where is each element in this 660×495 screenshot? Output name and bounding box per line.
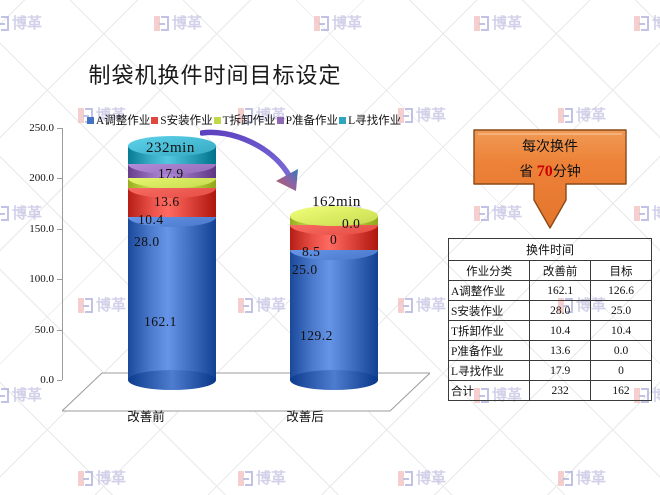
watermark-text: 博革 <box>652 206 660 221</box>
watermark: 博革 <box>0 13 154 33</box>
table-title-cell: 换件时间 <box>449 239 652 261</box>
x-label-after: 改善后 <box>245 406 365 425</box>
y-tick-label: 150.0 <box>29 223 54 235</box>
boge-logo-icon <box>398 471 413 486</box>
savings-callout: 每次换件 省 70分钟 <box>470 128 630 233</box>
watermark-text: 博革 <box>492 16 522 31</box>
y-tick-label: 100.0 <box>29 273 54 285</box>
table-column-header: 目标 <box>591 261 652 281</box>
boge-logo-icon <box>78 471 93 486</box>
table-cell-target: 10.4 <box>591 321 652 341</box>
table-cell-target: 0.0 <box>591 341 652 361</box>
table-column-header: 作业分类 <box>449 261 530 281</box>
watermark-text: 博革 <box>96 471 126 486</box>
legend-label: A调整作业 <box>96 112 150 128</box>
boge-logo-icon <box>314 16 329 31</box>
table-header-merged-row: 换件时间 <box>449 239 652 261</box>
legend-item-5[interactable]: L寻找作业 <box>339 112 401 128</box>
watermark-text: 博革 <box>576 471 606 486</box>
callout-suffix: 分钟 <box>553 165 581 180</box>
watermark: 博革 <box>558 468 660 488</box>
watermark-text: 博革 <box>332 16 362 31</box>
y-tick-label: 0.0 <box>40 374 54 386</box>
watermark: 博革 <box>78 468 238 488</box>
data-table: 换件时间作业分类改善前目标A调整作业162.1126.6S安装作业28.025.… <box>448 238 652 401</box>
table-summary-row: 合计232162 <box>449 381 652 401</box>
bar-value-label: 0.0 <box>342 216 360 232</box>
x-label-before: 改善前 <box>86 406 206 425</box>
watermark: 博革 <box>154 13 314 33</box>
table-column-header: 改善前 <box>530 261 591 281</box>
y-tick-label: 200.0 <box>29 172 54 184</box>
table-row: T拆卸作业10.410.4 <box>449 321 652 341</box>
table-cell-name: A调整作业 <box>449 281 530 301</box>
table-cell-target: 162 <box>591 381 652 401</box>
table-cell-target: 0 <box>591 361 652 381</box>
bar-value-label: 8.5 <box>302 244 320 260</box>
table-cell-before: 28.0 <box>530 301 591 321</box>
table-cell-name: 合计 <box>449 381 530 401</box>
table-cell-name: S安装作业 <box>449 301 530 321</box>
watermark: 博革 <box>558 105 660 125</box>
watermark: 博革 <box>474 13 634 33</box>
bar-value-label: 0 <box>330 232 337 248</box>
boge-logo-icon <box>558 471 573 486</box>
table-cell-name: P准备作业 <box>449 341 530 361</box>
table-row: S安装作业28.025.0 <box>449 301 652 321</box>
bar-value-label: 17.9 <box>158 166 184 182</box>
cylinder-bottom-cap <box>128 370 216 390</box>
bar-value-label: 129.2 <box>300 328 333 344</box>
legend-item-1[interactable]: A调整作业 <box>87 112 150 128</box>
boge-logo-icon <box>474 16 489 31</box>
bar-value-label: 13.6 <box>154 194 180 210</box>
legend-swatch-icon <box>277 117 284 124</box>
watermark-text: 博革 <box>652 16 660 31</box>
watermark-text: 博革 <box>12 16 42 31</box>
improvement-arrow-icon <box>200 125 320 215</box>
table-row: P准备作业13.60.0 <box>449 341 652 361</box>
legend-swatch-icon <box>214 117 221 124</box>
watermark-text: 博革 <box>256 471 286 486</box>
callout-number: 70 <box>537 163 553 180</box>
y-tick-label: 50.0 <box>35 324 54 336</box>
table-cell-target: 25.0 <box>591 301 652 321</box>
legend-label: L寻找作业 <box>348 112 401 128</box>
boge-logo-icon <box>0 16 9 31</box>
total-label-before: 232min <box>146 140 195 157</box>
table-row: A调整作业162.1126.6 <box>449 281 652 301</box>
legend-swatch-icon <box>339 117 346 124</box>
bar-value-label: 28.0 <box>134 234 160 250</box>
watermark-text: 博革 <box>576 108 606 123</box>
boge-logo-icon <box>154 16 169 31</box>
legend-swatch-icon <box>87 117 94 124</box>
watermark: 博革 <box>238 468 398 488</box>
table-cell-before: 232 <box>530 381 591 401</box>
table-cell-before: 10.4 <box>530 321 591 341</box>
bar-value-label: 10.4 <box>138 212 164 228</box>
watermark-text: 博革 <box>172 16 202 31</box>
y-tick-label: 250.0 <box>29 122 54 134</box>
boge-logo-icon <box>634 16 649 31</box>
y-axis: 0.050.0100.0150.0200.0250.0 <box>0 128 62 380</box>
table-cell-before: 162.1 <box>530 281 591 301</box>
callout-line-1: 每次换件 <box>470 136 630 159</box>
callout-text: 每次换件 省 70分钟 <box>470 136 630 185</box>
table-column-header-row: 作业分类改善前目标 <box>449 261 652 281</box>
boge-logo-icon <box>238 471 253 486</box>
legend-swatch-icon <box>151 117 158 124</box>
table-cell-name: L寻找作业 <box>449 361 530 381</box>
table-cell-target: 126.6 <box>591 281 652 301</box>
watermark: 博革 <box>314 13 474 33</box>
callout-line-2: 省 70分钟 <box>470 159 630 185</box>
callout-prefix: 省 <box>519 165 537 180</box>
bar-value-label: 162.1 <box>144 314 177 330</box>
watermark: 博革 <box>398 468 558 488</box>
watermark-text: 博革 <box>652 388 660 403</box>
watermark: 博革 <box>634 13 660 33</box>
table-cell-name: T拆卸作业 <box>449 321 530 341</box>
bar-value-label: 25.0 <box>292 262 318 278</box>
watermark: 博革 <box>634 203 660 223</box>
cylinder-bottom-cap <box>290 370 378 390</box>
watermark-text: 博革 <box>416 471 446 486</box>
slide-canvas: 博革博革博革博革博革博革博革博革博革博革博革博革博革博革博革博革博革博革博革博革… <box>0 0 660 495</box>
table-cell-before: 13.6 <box>530 341 591 361</box>
boge-logo-icon <box>634 206 649 221</box>
table-cell-before: 17.9 <box>530 361 591 381</box>
boge-logo-icon <box>558 108 573 123</box>
chart-title: 制袋机换件时间目标设定 <box>0 58 430 90</box>
table-row: L寻找作业17.90 <box>449 361 652 381</box>
